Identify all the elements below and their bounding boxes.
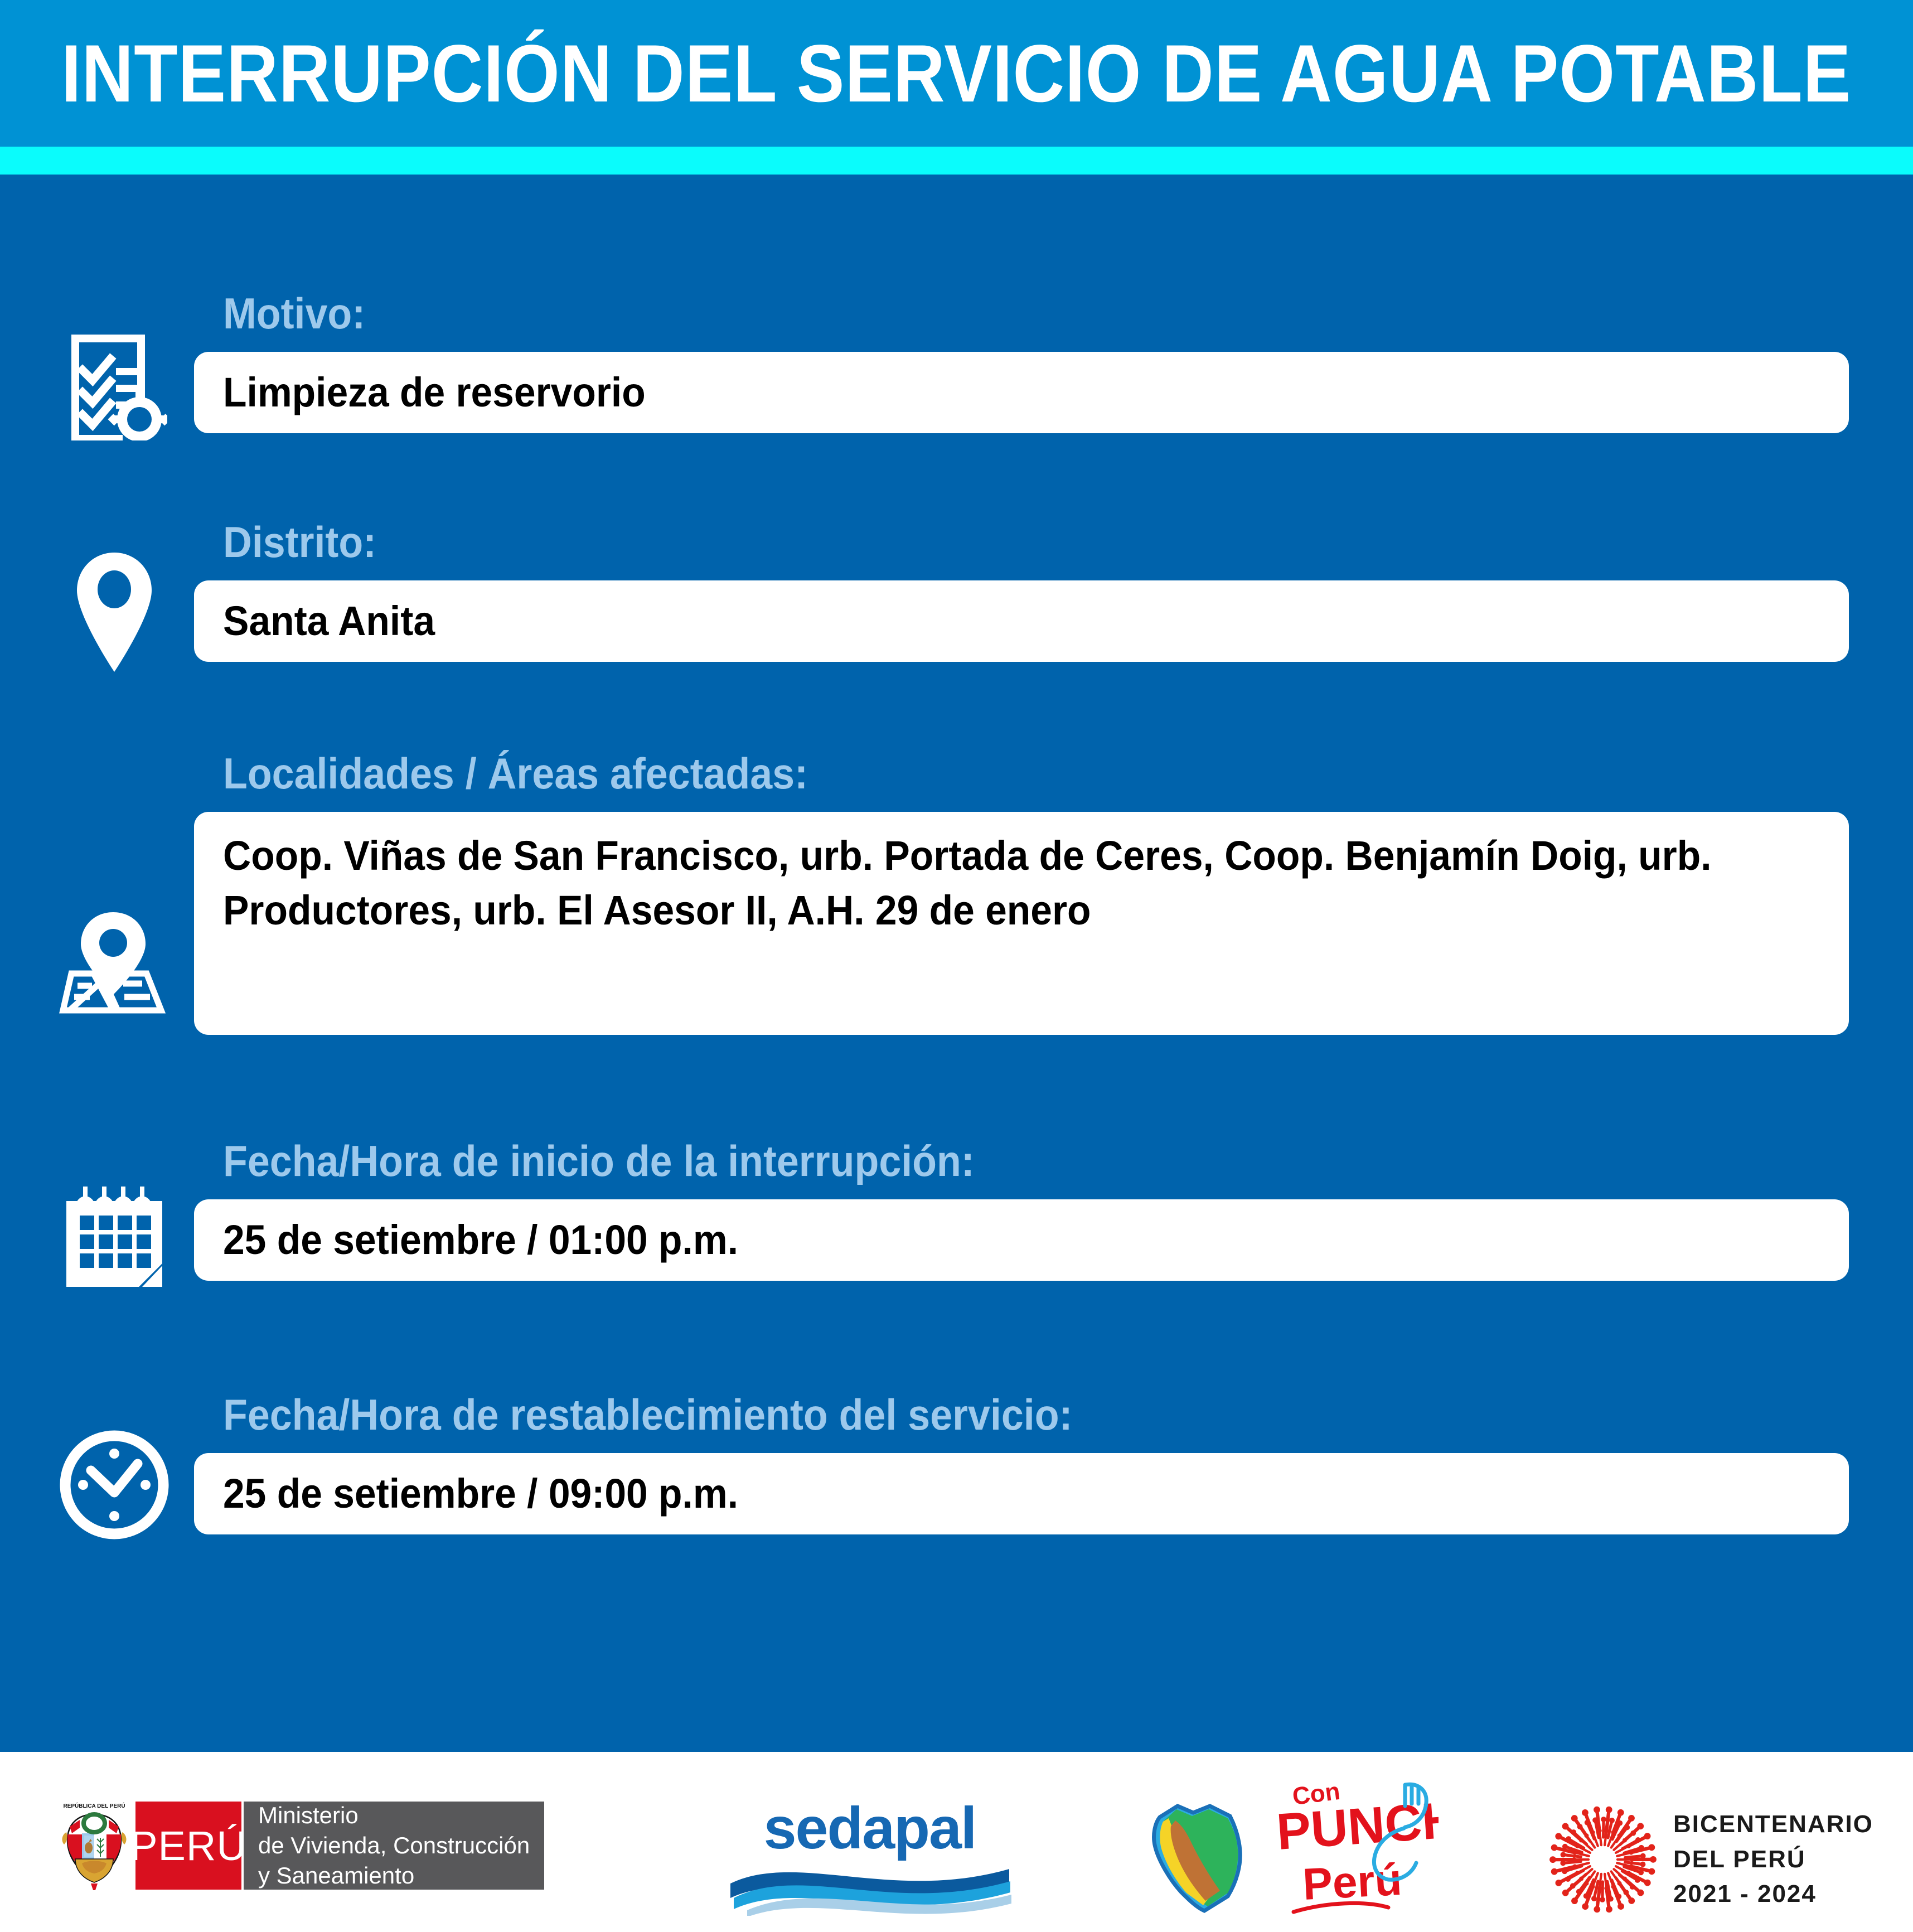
checklist-gear-icon-box	[50, 309, 178, 460]
value-card-motivo: Limpieza de reservorio	[194, 352, 1849, 433]
clock-icon	[56, 1427, 172, 1543]
bicentenario-logo: BICENTENARIO DEL PERÚ 2021 - 2024	[1547, 1804, 1873, 1915]
page-title: INTERRUPCIÓN DEL SERVICIO DE AGUA POTABL…	[61, 33, 1851, 114]
con-punche-peru-graphic: Con PUNCHE Perú	[1126, 1781, 1439, 1921]
value-card-localidades: Coop. Viñas de San Francisco, urb. Porta…	[194, 812, 1849, 1035]
value-motivo: Limpieza de reservorio	[223, 365, 646, 420]
calendar-icon	[59, 1181, 170, 1295]
main-content: Motivo: Limpieza de reservorio Distrito:…	[0, 175, 1913, 1752]
bicentenario-text: BICENTENARIO DEL PERÚ 2021 - 2024	[1673, 1807, 1873, 1911]
field-row-fecha-inicio: Fecha/Hora de inicio de la interrupción:…	[0, 1139, 1913, 1323]
map-pin-icon-box	[50, 894, 178, 1022]
bicentenario-line1: BICENTENARIO	[1673, 1807, 1873, 1842]
field-row-localidades: Localidades / Áreas afectadas: Coop. Viñ…	[0, 752, 1913, 1092]
label-fecha-inicio: Fecha/Hora de inicio de la interrupción:	[223, 1139, 975, 1183]
field-row-fecha-restablecimiento: Fecha/Hora de restablecimiento del servi…	[0, 1393, 1913, 1577]
ministerio-line2: de Vivienda, Construcción	[258, 1831, 530, 1861]
ministerio-line3: y Saneamiento	[258, 1861, 530, 1891]
clock-icon-box	[50, 1415, 178, 1555]
value-card-fecha-restablecimiento: 25 de setiembre / 09:00 p.m.	[194, 1453, 1849, 1534]
sedapal-wordmark: sedapal	[764, 1799, 976, 1858]
checklist-gear-icon	[61, 329, 167, 440]
label-localidades: Localidades / Áreas afectadas:	[223, 752, 808, 795]
page-header: INTERRUPCIÓN DEL SERVICIO DE AGUA POTABL…	[0, 0, 1913, 147]
field-row-motivo: Motivo: Limpieza de reservorio	[0, 292, 1913, 476]
field-row-distrito: Distrito: Santa Anita	[0, 520, 1913, 704]
value-card-fecha-inicio: 25 de setiembre / 01:00 p.m.	[194, 1199, 1849, 1281]
label-fecha-restablecimiento: Fecha/Hora de restablecimiento del servi…	[223, 1393, 1072, 1436]
ministerio-vivienda-logo: REPÚBLICA DEL PERÚ PERÚ Ministerio de Vi…	[53, 1801, 544, 1890]
ministerio-name: Ministerio de Vivienda, Construcción y S…	[244, 1802, 544, 1890]
value-localidades: Coop. Viñas de San Francisco, urb. Porta…	[223, 829, 1724, 937]
header-accent-bar	[0, 147, 1913, 175]
label-motivo: Motivo:	[223, 292, 365, 335]
calendar-icon-box	[50, 1168, 178, 1308]
location-pin-icon-box	[50, 543, 178, 682]
location-pin-icon	[72, 550, 156, 674]
bicentenario-burst-icon	[1547, 1804, 1659, 1915]
con-punche-peru-logo: Con PUNCHE Perú	[1126, 1781, 1439, 1921]
sedapal-waves-icon	[725, 1854, 1015, 1916]
map-pin-icon	[57, 901, 172, 1015]
peru-wordmark: PERÚ	[135, 1802, 241, 1890]
shield-caption: REPÚBLICA DEL PERÚ	[63, 1802, 125, 1809]
value-fecha-inicio: 25 de setiembre / 01:00 p.m.	[223, 1213, 738, 1267]
value-card-distrito: Santa Anita	[194, 580, 1849, 662]
bicentenario-line2: DEL PERÚ	[1673, 1842, 1873, 1877]
peru-map-icon	[1154, 1806, 1241, 1911]
value-fecha-restablecimiento: 25 de setiembre / 09:00 p.m.	[223, 1466, 738, 1521]
ministerio-line1: Ministerio	[258, 1800, 530, 1831]
sedapal-logo: sedapal	[725, 1799, 1015, 1916]
value-distrito: Santa Anita	[223, 594, 435, 648]
bicentenario-line3: 2021 - 2024	[1673, 1877, 1873, 1911]
label-distrito: Distrito:	[223, 520, 376, 564]
peru-coat-of-arms-icon: REPÚBLICA DEL PERÚ	[53, 1801, 135, 1890]
punche-line-peru: Perú	[1301, 1854, 1403, 1909]
